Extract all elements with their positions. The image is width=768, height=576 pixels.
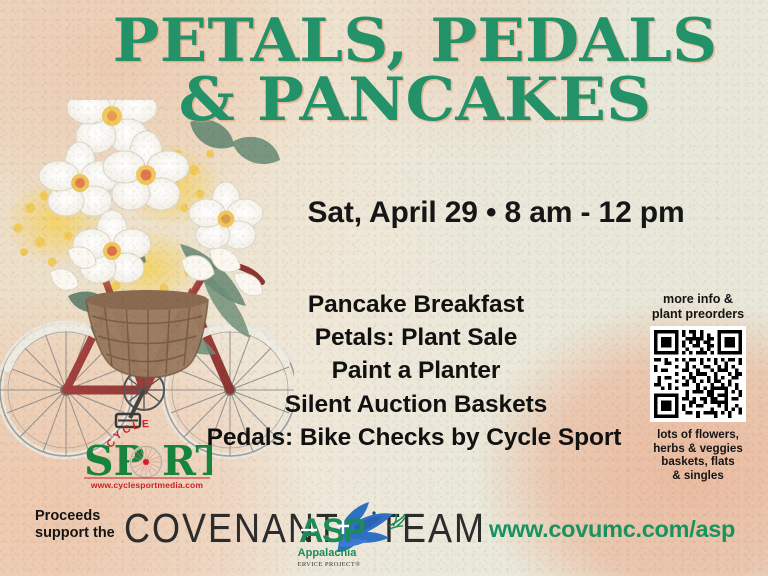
title-line-1: PETALS, PEDALS xyxy=(56,14,768,69)
qr-caption-top-line1: more info & xyxy=(663,292,733,306)
list-item: Pancake Breakfast xyxy=(180,288,652,321)
qr-caption-bottom-line4: & singles xyxy=(672,469,724,482)
cycle-sport-logo[interactable]: CYCLE SP RT www.cyclesportmedia.com xyxy=(82,420,212,490)
footer: Proceeds support the COVENANT TEAM ASP xyxy=(0,498,768,576)
qr-caption-bottom-line3: baskets, flats xyxy=(661,455,734,468)
qr-caption-top: more info & plant preorders xyxy=(628,292,768,321)
asp-tagline-text: SERVICE PROJECT® xyxy=(297,561,361,568)
asp-logo[interactable]: ASP Appalachia SERVICE PROJECT® xyxy=(297,496,407,570)
list-item: Paint a Planter xyxy=(180,354,652,387)
wheel-o-icon xyxy=(131,447,162,478)
event-datetime: Sat, April 29 • 8 am - 12 pm xyxy=(236,196,756,230)
event-list: Pancake Breakfast Petals: Plant Sale Pai… xyxy=(180,288,652,454)
qr-code-icon[interactable] xyxy=(650,326,746,422)
qr-caption-bottom: lots of flowers, herbs & veggies baskets… xyxy=(628,428,768,482)
qr-block: more info & plant preorders xyxy=(628,292,768,482)
qr-caption-bottom-line1: lots of flowers, xyxy=(657,428,739,441)
list-item: Petals: Plant Sale xyxy=(180,321,652,354)
proceeds-line2: support the xyxy=(35,525,115,541)
website-url[interactable]: www.covumc.com/asp xyxy=(489,516,735,543)
list-item: Silent Auction Baskets xyxy=(180,388,652,421)
asp-name-text: Appalachia xyxy=(298,547,358,559)
qr-caption-bottom-line2: herbs & veggies xyxy=(653,442,743,455)
olive-sprig-icon xyxy=(389,514,405,529)
title-line-2: & PANCAKES xyxy=(56,73,768,128)
poster-canvas: PETALS, PEDALS & PANCAKES Sat, April 29 … xyxy=(0,0,768,576)
page-title: PETALS, PEDALS & PANCAKES xyxy=(70,14,760,128)
proceeds-line1: Proceeds xyxy=(35,508,100,524)
cycle-sport-url: www.cyclesportmedia.com xyxy=(90,480,204,490)
qr-caption-top-line2: plant preorders xyxy=(652,307,744,321)
list-item: Pedals: Bike Checks by Cycle Sport xyxy=(176,421,652,454)
